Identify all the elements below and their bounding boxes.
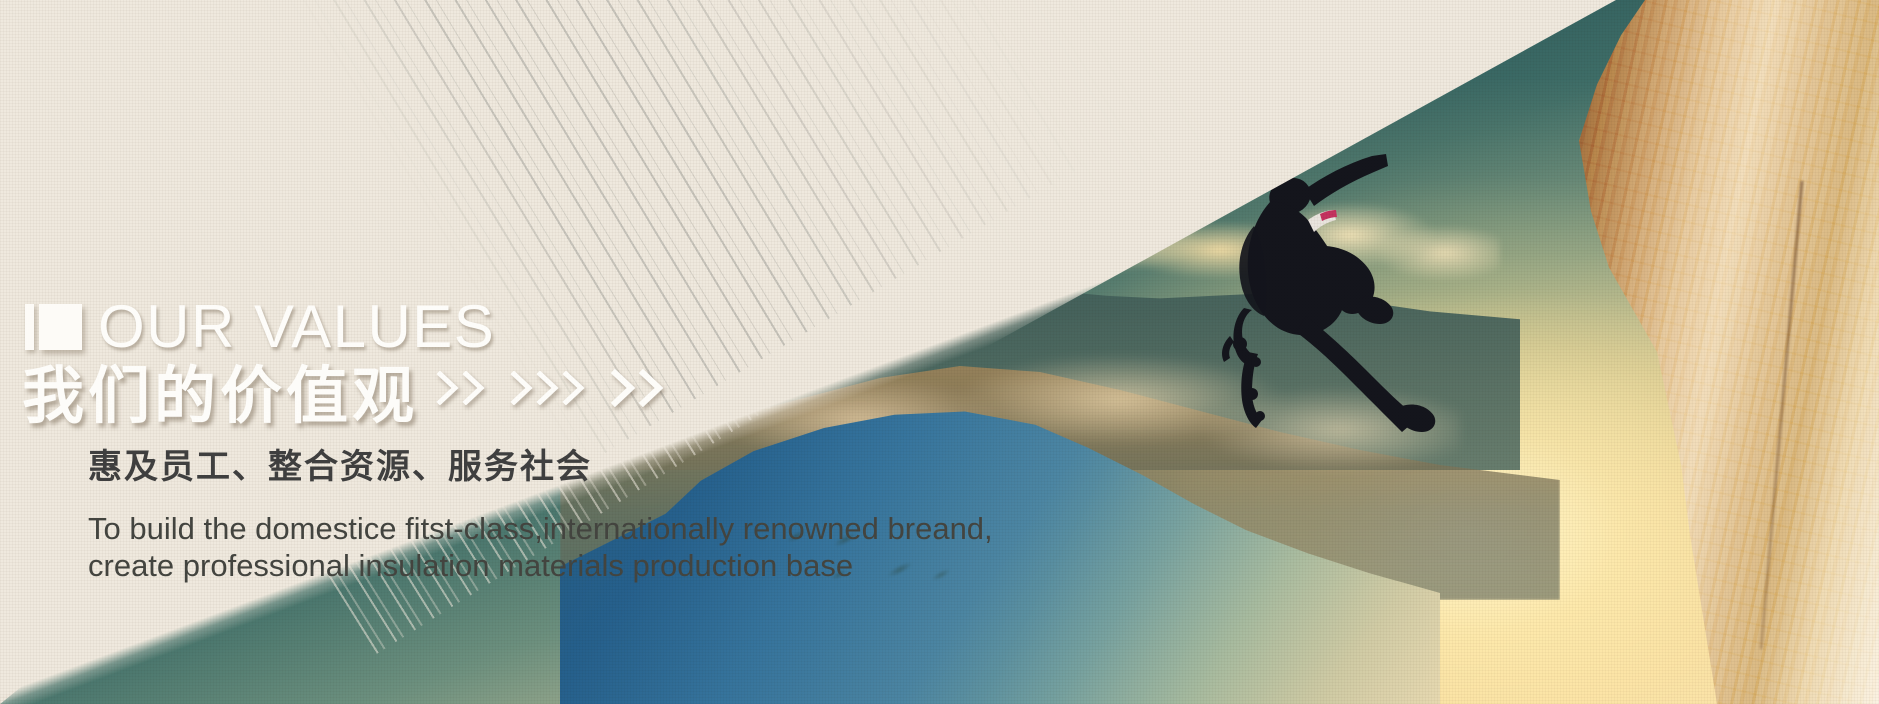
chevron-right-icon [510,371,536,405]
chevron-decoration-group [436,369,666,407]
chevron-right-icon [562,371,588,405]
title-row: OUR VALUES [22,296,1202,358]
mark-bar-icon [25,304,34,350]
chevron-right-icon [536,371,562,405]
chevron-right-icon [462,371,488,405]
mark-square-icon [39,304,82,350]
banner-text-block: OUR VALUES 我们的价值观 惠及员工、整合资源 [22,296,1202,584]
chevron-group-double-left [436,371,488,405]
title-chinese-row: 我们的价值观 [22,360,1202,434]
chevron-right-icon [638,369,666,407]
slogan-english-line-2: create professional insulation materials… [88,547,1202,584]
chevron-group-double-right [610,369,666,407]
slogan-english-line-1: To build the domestice fitst-class,inter… [88,510,1202,547]
page-title-chinese: 我们的价值观 [22,360,418,434]
page-title-english: OUR VALUES [98,297,495,357]
chevron-group-triple-middle [510,371,588,405]
chevron-right-icon [436,371,462,405]
bar-and-square-mark-icon [25,304,82,350]
chevron-right-icon [610,369,638,407]
our-values-banner: OUR VALUES 我们的价值观 惠及员工、整合资源 [0,0,1879,704]
slogan-chinese: 惠及员工、整合资源、服务社会 [88,446,1202,488]
